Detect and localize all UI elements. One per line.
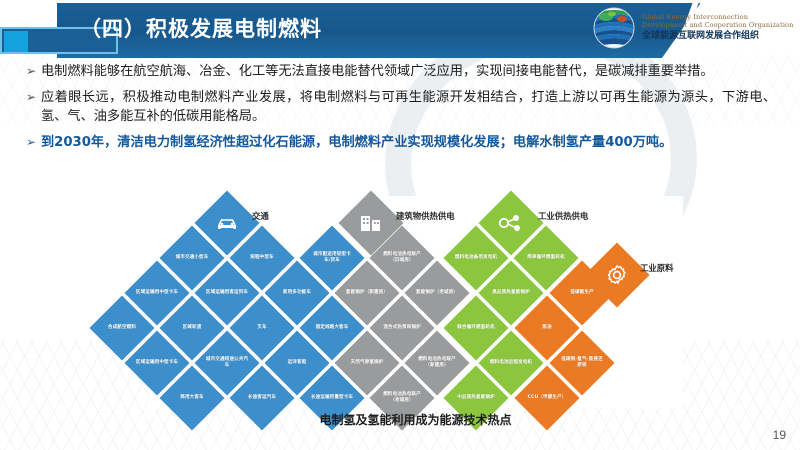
logo-english-line2: Development and Cooperation Organization [642,22,793,30]
diagram-caption: 电制氢及氢能利用成为能源技术热点 [148,411,683,428]
building-icon [359,213,383,233]
molecule-icon [498,213,524,233]
page-number: 19 [773,428,786,442]
bullet-marker-icon: ➢ [26,62,41,81]
hydrogen-application-diagram: 交通 建筑物供热供电 工业供热供电 工业原料 城市交通小型车 短程中型车 城市配… [148,196,683,408]
bullet-text: 应着眼长远，积极推动电制燃料产业发展，将电制燃料与可再生能源开发相结合，打造上游… [41,88,776,126]
organization-logo: Global Energy Interconnection Developmen… [592,6,793,50]
bullet-item: ➢ 应着眼长远，积极推动电制燃料产业发展，将电制燃料与可再生能源开发相结合，打造… [26,88,776,126]
bullet-text: 电制燃料能够在航空航海、冶金、化工等无法直接电能替代领域广泛应用，实现间接电能替… [41,62,714,81]
bullet-marker-icon: ➢ [26,133,41,152]
bullet-list: ➢ 电制燃料能够在航空航海、冶金、化工等无法直接电能替代领域广泛应用，实现间接电… [26,62,776,159]
bullet-marker-icon: ➢ [26,88,41,107]
gear-icon [606,264,628,286]
category-label-building: 建筑物供热供电 [396,210,455,222]
category-label-industrial-feedstock: 工业原料 [640,262,674,274]
page-title: （四）积极发展电制燃料 [80,13,322,43]
bullet-item-highlighted: ➢ 到2030年，清洁电力制氢经济性超过化石能源，电制燃料产业实现规模化发展；电… [26,133,776,152]
category-label-transport: 交通 [252,210,269,222]
header-left-tab-accent [4,31,28,52]
car-icon [215,215,239,231]
category-label-industrial-heat: 工业供热供电 [538,210,588,222]
logo-chinese-name: 全球能源互联网发展合作组织 [642,31,793,41]
bullet-item: ➢ 电制燃料能够在航空航海、冶金、化工等无法直接电能替代领域广泛应用，实现间接电… [26,62,776,81]
globe-icon [592,6,636,50]
slide-canvas: （四）积极发展电制燃料 Glob [0,0,800,450]
bullet-text: 到2030年，清洁电力制氢经济性超过化石能源，电制燃料产业实现规模化发展；电解水… [41,133,672,152]
